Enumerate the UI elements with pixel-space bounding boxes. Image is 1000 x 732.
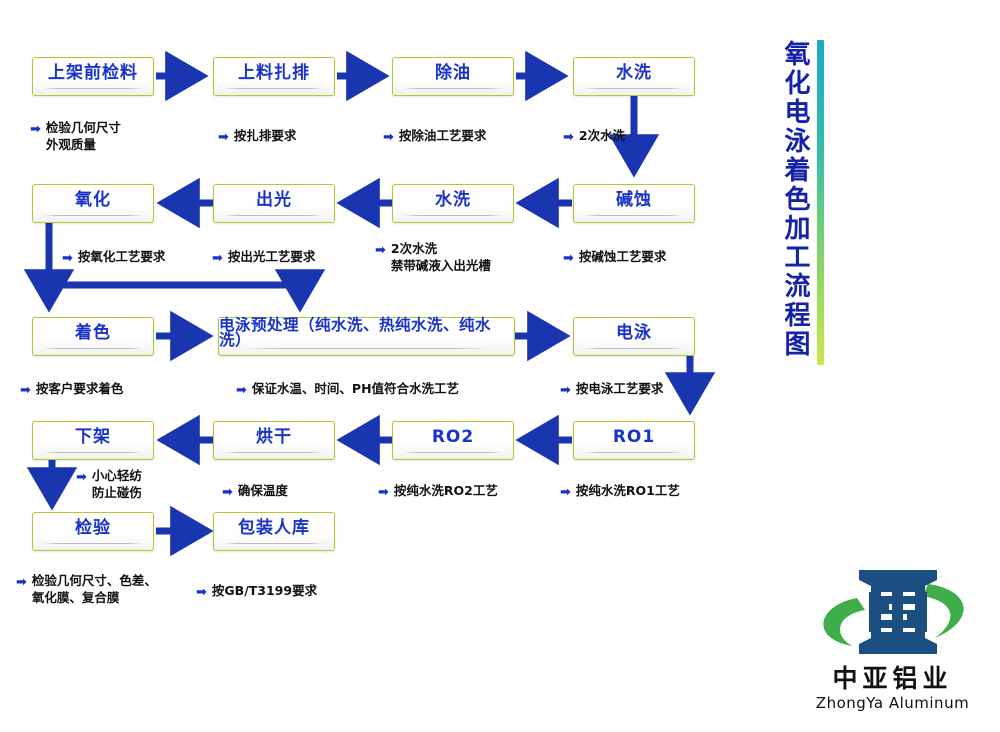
note-s12: ➡ 按纯水洗RO1工艺 <box>560 483 680 501</box>
logo-mark-icon <box>795 558 990 663</box>
note-s10: ➡ 保证水温、时间、PH值符合水洗工艺 <box>236 381 459 399</box>
step-box-s12[interactable]: RO1 <box>573 421 695 460</box>
step-box-s11[interactable]: 电泳 <box>573 317 695 356</box>
note-s13: ➡ 按纯水洗RO2工艺 <box>378 483 498 501</box>
note-s14: ➡ 确保温度 <box>222 483 288 501</box>
note-s16: ➡ 检验几何尺寸、色差、 氧化膜、复合膜 <box>16 573 157 607</box>
bullet-arrow-icon: ➡ <box>375 242 386 260</box>
step-box-s2[interactable]: 上料扎排 <box>213 57 335 96</box>
note-s1: ➡ 检验几何尺寸 外观质量 <box>30 120 121 154</box>
note-s17: ➡ 按GB/T3199要求 <box>196 583 317 601</box>
bullet-arrow-icon: ➡ <box>222 484 233 502</box>
bullet-arrow-icon: ➡ <box>212 250 223 268</box>
note-s11: ➡ 按电泳工艺要求 <box>560 381 663 399</box>
bullet-arrow-icon: ➡ <box>560 382 571 400</box>
bullet-arrow-icon: ➡ <box>563 250 574 268</box>
bullet-arrow-icon: ➡ <box>218 129 229 147</box>
bullet-arrow-icon: ➡ <box>236 382 247 400</box>
note-s2: ➡ 按扎排要求 <box>218 128 296 146</box>
bullet-arrow-icon: ➡ <box>62 250 73 268</box>
step-box-s15[interactable]: 下架 <box>32 421 154 460</box>
bullet-arrow-icon: ➡ <box>196 584 207 602</box>
bullet-arrow-icon: ➡ <box>20 382 31 400</box>
note-s3: ➡ 按除油工艺要求 <box>383 128 486 146</box>
step-box-s13[interactable]: RO2 <box>392 421 514 460</box>
diagram-title-text: 氧化电泳着色加工流程图 <box>782 40 808 365</box>
step-box-s17[interactable]: 包装人库 <box>213 512 335 551</box>
step-box-s6[interactable]: 水洗 <box>392 184 514 223</box>
note-s9: ➡ 按客户要求着色 <box>20 381 123 399</box>
bullet-arrow-icon: ➡ <box>383 129 394 147</box>
step-box-s16[interactable]: 检验 <box>32 512 154 551</box>
title-gradient-bar <box>817 40 824 365</box>
company-logo: 中亚铝业 ZhongYa Aluminum <box>795 558 990 723</box>
logo-text-cn: 中亚铝业 <box>795 666 990 691</box>
step-box-s7[interactable]: 出光 <box>213 184 335 223</box>
step-box-s1[interactable]: 上架前检料 <box>32 57 154 96</box>
bullet-arrow-icon: ➡ <box>76 469 87 487</box>
bullet-arrow-icon: ➡ <box>563 129 574 147</box>
note-s6: ➡ 2次水洗 禁带碱液入出光槽 <box>375 241 491 275</box>
bullet-arrow-icon: ➡ <box>378 484 389 502</box>
bullet-arrow-icon: ➡ <box>30 121 41 139</box>
note-s8: ➡ 按氧化工艺要求 <box>62 249 165 267</box>
step-box-s14[interactable]: 烘干 <box>213 421 335 460</box>
step-box-s9[interactable]: 着色 <box>32 317 154 356</box>
note-s5: ➡ 按碱蚀工艺要求 <box>563 249 666 267</box>
step-box-s8[interactable]: 氧化 <box>32 184 154 223</box>
bullet-arrow-icon: ➡ <box>560 484 571 502</box>
step-box-s3[interactable]: 除油 <box>392 57 514 96</box>
step-box-s5[interactable]: 碱蚀 <box>573 184 695 223</box>
step-box-s10[interactable]: 电泳预处理（纯水洗、热纯水洗、纯水洗） <box>218 317 515 356</box>
step-box-s4[interactable]: 水洗 <box>573 57 695 96</box>
diagram-title: 氧化电泳着色加工流程图 <box>782 40 862 370</box>
logo-text-en: ZhongYa Aluminum <box>795 696 990 711</box>
arrow-branch-to-s10 <box>49 285 300 307</box>
note-s7: ➡ 按出光工艺要求 <box>212 249 315 267</box>
bullet-arrow-icon: ➡ <box>16 574 27 592</box>
note-s15: ➡ 小心轻纺 防止碰伤 <box>76 468 142 502</box>
note-s4: ➡ 2次水洗 <box>563 128 625 146</box>
